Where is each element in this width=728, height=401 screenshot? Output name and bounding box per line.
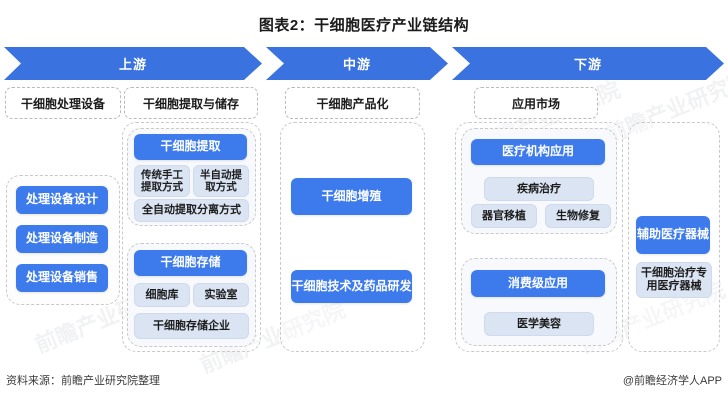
pill-equipment-design[interactable]: 处理设备设计 bbox=[16, 186, 108, 214]
pill-medical-beauty[interactable]: 医学美容 bbox=[484, 312, 594, 336]
page-title: 图表2：干细胞医疗产业链结构 bbox=[0, 14, 728, 35]
pill-tech-drug-rnd[interactable]: 干细胞技术及药品研发 bbox=[291, 270, 412, 303]
chart-canvas: 前瞻产业研究院 前瞻产业研究院 前瞻产业研究院 前瞻产业研究院 前瞻产业研究院 … bbox=[0, 0, 728, 401]
pill-dedicated-device[interactable]: 干细胞治疗专用医疗器械 bbox=[636, 262, 712, 298]
pill-medical-institution[interactable]: 医疗机构应用 bbox=[471, 139, 605, 165]
stage-header-equipment: 干细胞处理设备 bbox=[5, 87, 121, 119]
arrow-upstream: 上游 bbox=[4, 47, 262, 80]
pill-auto-extraction[interactable]: 全自动提取分离方式 bbox=[134, 199, 249, 222]
group-midstream bbox=[280, 122, 425, 352]
pill-semiauto-extraction[interactable]: 半自动提 取方式 bbox=[193, 165, 249, 197]
pill-storage-enterprise[interactable]: 干细胞存储企业 bbox=[134, 313, 249, 339]
arrow-downstream: 下游 bbox=[452, 47, 724, 80]
pill-cell-bank[interactable]: 细胞库 bbox=[134, 283, 190, 307]
pill-equipment-sales[interactable]: 处理设备销售 bbox=[16, 264, 108, 292]
stage-header-market: 应用市场 bbox=[474, 87, 598, 119]
stage-header-product: 干细胞产品化 bbox=[285, 87, 420, 119]
pill-auxiliary-device[interactable]: 辅助医疗器械 bbox=[636, 216, 710, 254]
pill-stemcell-storage[interactable]: 干细胞存储 bbox=[134, 250, 247, 276]
pill-organ-transplant[interactable]: 器官移植 bbox=[471, 204, 537, 228]
pill-manual-extraction[interactable]: 传统手工 提取方式 bbox=[134, 165, 190, 197]
pill-equipment-manufacture[interactable]: 处理设备制造 bbox=[16, 225, 108, 253]
value-chain-arrows: 上游 中游 下游 bbox=[4, 47, 724, 80]
pill-stemcell-proliferation[interactable]: 干细胞增殖 bbox=[291, 178, 412, 215]
brand-credit: @前瞻经济学人APP bbox=[623, 372, 722, 388]
pill-stemcell-extraction[interactable]: 干细胞提取 bbox=[134, 134, 247, 160]
arrow-midstream: 中游 bbox=[266, 47, 448, 80]
stage-header-extraction: 干细胞提取与储存 bbox=[124, 87, 258, 119]
pill-bio-repair[interactable]: 生物修复 bbox=[545, 204, 611, 228]
pill-laboratory[interactable]: 实验室 bbox=[193, 283, 249, 307]
pill-disease-treatment[interactable]: 疾病治疗 bbox=[484, 177, 594, 201]
pill-consumer-application[interactable]: 消费级应用 bbox=[471, 270, 605, 297]
source-note: 资料来源：前瞻产业研究院整理 bbox=[6, 372, 160, 388]
